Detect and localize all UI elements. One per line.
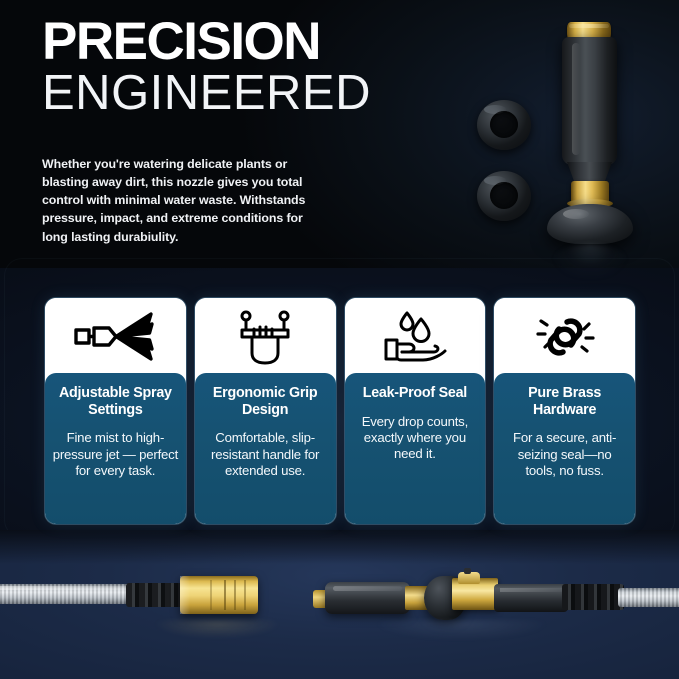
floor-reflection xyxy=(0,620,679,664)
feature-card-body: Adjustable Spray Settings Fine mist to h… xyxy=(45,373,186,524)
chain-link-sparkle-icon xyxy=(494,298,635,375)
headline-secondary: ENGINEERED xyxy=(42,69,422,119)
brass-connector-left xyxy=(180,576,258,614)
hose-body-right xyxy=(494,584,568,612)
hand-water-drop-icon xyxy=(345,298,486,375)
feature-card-body: Pure Brass Hardware For a secure, anti-s… xyxy=(494,373,635,524)
rubber-washer-icon xyxy=(477,100,531,150)
feature-card-description: For a secure, anti-seizing seal—no tools… xyxy=(501,430,628,479)
rubber-washer-icon xyxy=(477,171,531,221)
feature-card-list: Adjustable Spray Settings Fine mist to h… xyxy=(45,298,635,524)
product-infographic: PRECISION ENGINEERED Whether you're wate… xyxy=(0,0,679,679)
nozzle-reflection xyxy=(553,244,627,278)
hero-description: Whether you're watering delicate plants … xyxy=(42,155,317,246)
feature-card-title: Leak-Proof Seal xyxy=(363,385,467,402)
hero-product-image xyxy=(455,8,679,270)
feature-card[interactable]: Adjustable Spray Settings Fine mist to h… xyxy=(45,298,186,524)
nozzle-barrel xyxy=(562,37,617,165)
feature-card[interactable]: Pure Brass Hardware For a secure, anti-s… xyxy=(494,298,635,524)
hand-grip-icon xyxy=(195,298,336,375)
nozzle-base xyxy=(547,204,633,244)
braided-hose-left xyxy=(0,584,134,604)
shutoff-valve-screw xyxy=(464,568,471,574)
braided-hose-right xyxy=(618,588,679,607)
hose-cuff-right xyxy=(562,584,624,610)
feature-card[interactable]: Leak-Proof Seal Every drop counts, exact… xyxy=(345,298,486,524)
feature-card-body: Leak-Proof Seal Every drop counts, exact… xyxy=(345,373,486,524)
feature-card-description: Comfortable, slip-resistant handle for e… xyxy=(202,430,329,479)
hose-cuff-left xyxy=(126,583,184,607)
feature-card-description: Fine mist to high-pressure jet — perfect… xyxy=(52,430,179,479)
feature-card-body: Ergonomic Grip Design Comfortable, slip-… xyxy=(195,373,336,524)
feature-card-title: Pure Brass Hardware xyxy=(501,385,628,418)
feature-card-title: Adjustable Spray Settings xyxy=(52,385,179,418)
feature-card[interactable]: Ergonomic Grip Design Comfortable, slip-… xyxy=(195,298,336,524)
feature-card-title: Ergonomic Grip Design xyxy=(202,385,329,418)
nozzle-grip-right xyxy=(325,582,410,614)
hero-text-block: PRECISION ENGINEERED Whether you're wate… xyxy=(42,18,422,246)
hose-nozzle-illustration xyxy=(545,22,635,237)
feature-card-description: Every drop counts, exactly where you nee… xyxy=(352,414,479,463)
bottom-product-scene xyxy=(0,534,679,679)
spray-nozzle-icon xyxy=(45,298,186,375)
headline-primary: PRECISION xyxy=(42,18,422,67)
